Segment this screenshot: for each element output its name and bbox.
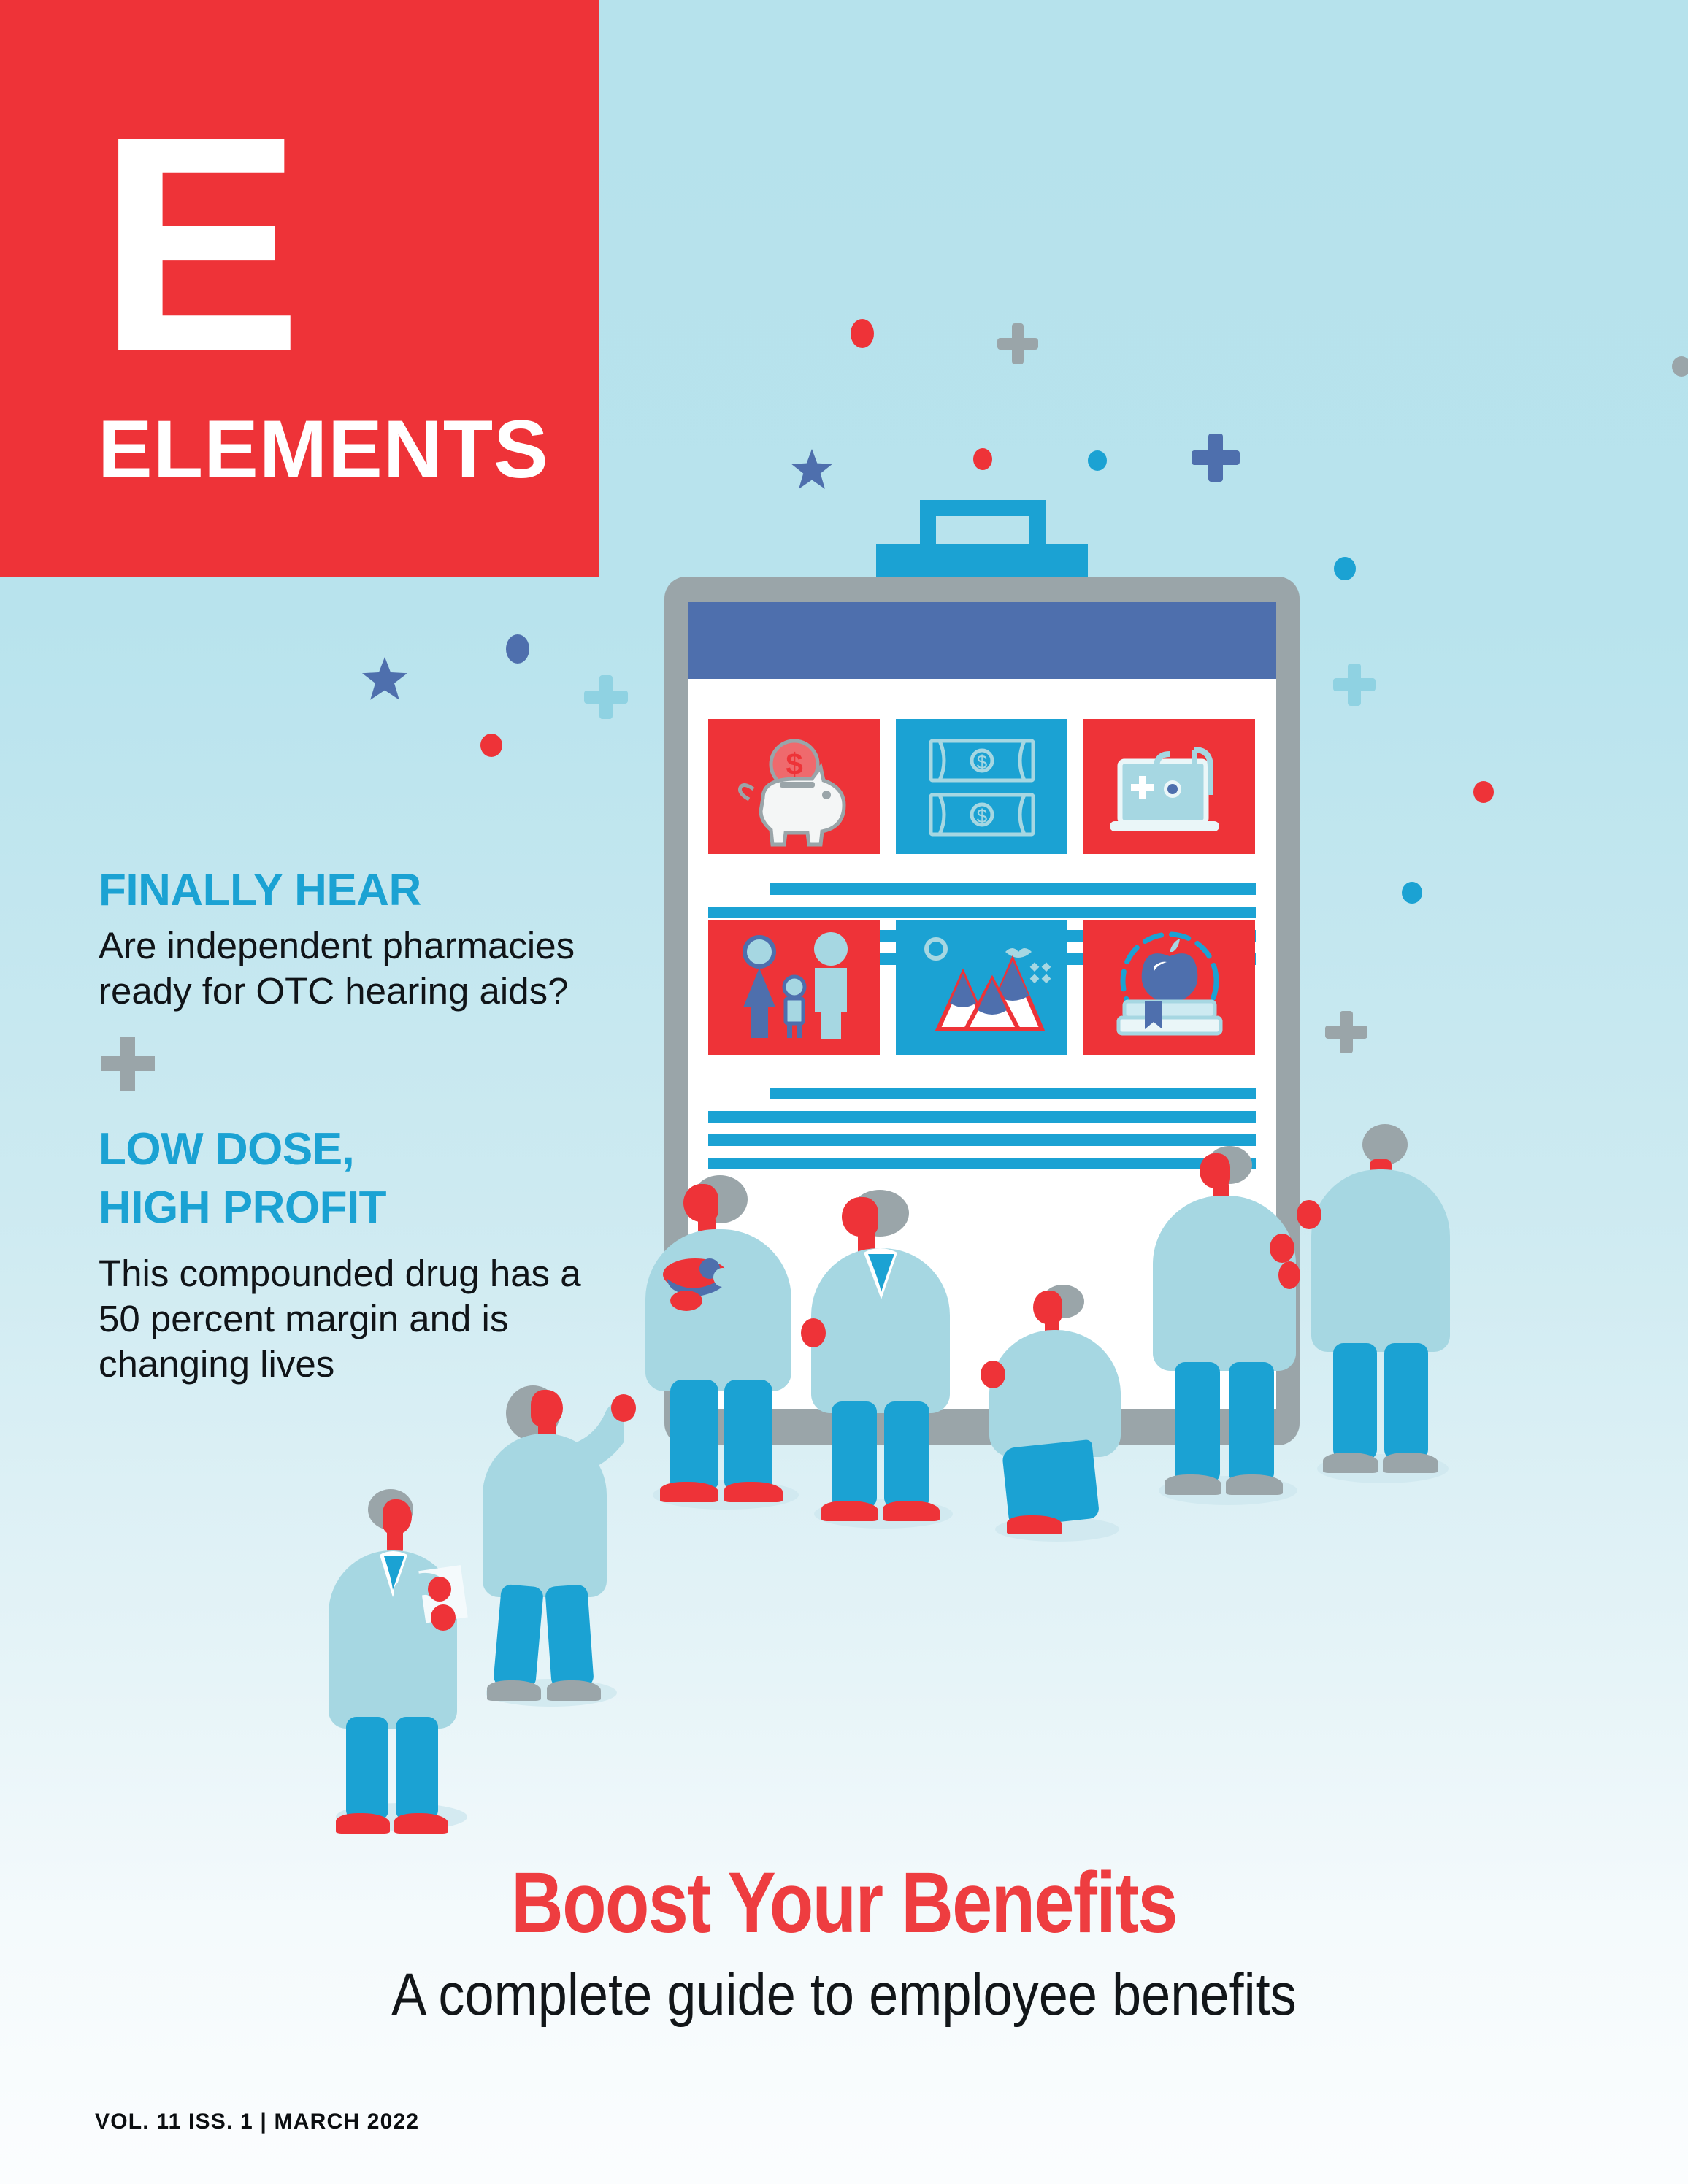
issue-line: VOL. 11 ISS. 1 | MARCH 2022 bbox=[95, 2110, 419, 2134]
text-bar bbox=[708, 1111, 1256, 1123]
figure-pants-right bbox=[396, 1717, 438, 1820]
figure-hand bbox=[801, 1318, 826, 1347]
figure-coat bbox=[989, 1330, 1121, 1457]
cover-line-low-dose[interactable]: LOW DOSE, HIGH PROFIT This compounded dr… bbox=[99, 1124, 610, 1387]
figure-shoe-right bbox=[1383, 1453, 1438, 1473]
figure-shoe-right bbox=[883, 1501, 940, 1521]
cover-line-kicker-line-2: HIGH PROFIT bbox=[99, 1183, 610, 1234]
figure-pants-left bbox=[1175, 1362, 1220, 1483]
svg-text:$: $ bbox=[977, 751, 988, 773]
confetti-dot-cyan bbox=[1088, 450, 1107, 471]
figure-shoe-right bbox=[394, 1813, 448, 1834]
clipboard-header-band bbox=[688, 602, 1276, 679]
text-bar bbox=[708, 907, 1256, 918]
confetti-cross-grey bbox=[997, 323, 1038, 364]
figure-shoe-left bbox=[1165, 1474, 1221, 1495]
figure-shoe-right bbox=[1226, 1474, 1283, 1495]
confetti-cross-navy bbox=[1192, 434, 1240, 482]
magazine-cover: $ $ bbox=[0, 0, 1688, 2184]
apple-on-books-icon bbox=[1083, 920, 1255, 1055]
confetti-star-navy bbox=[362, 657, 407, 701]
figure-pants-right bbox=[545, 1584, 594, 1689]
logo-wordmark: ELEMENTS bbox=[98, 409, 549, 491]
dollar-bills-icon: $ $ bbox=[896, 719, 1067, 854]
figure-pants-left bbox=[493, 1584, 544, 1690]
benefit-tile-savings: $ bbox=[708, 719, 880, 854]
figure-hand bbox=[611, 1394, 636, 1422]
figure-lapel bbox=[807, 1190, 960, 1533]
svg-text:$: $ bbox=[977, 805, 988, 827]
figure-hand bbox=[1278, 1261, 1300, 1289]
text-bar bbox=[708, 1134, 1256, 1146]
figure-coat bbox=[1311, 1169, 1450, 1352]
figure-pharmacist-d bbox=[1150, 1146, 1311, 1511]
figure-shoe-left bbox=[821, 1501, 878, 1521]
figure-pants-right bbox=[1229, 1362, 1274, 1483]
benefit-tile-pay: $ $ bbox=[896, 719, 1067, 854]
figure-pharmacist-a bbox=[642, 1175, 810, 1511]
figure-shoe-left bbox=[336, 1813, 390, 1834]
benefit-tile-row-2 bbox=[708, 920, 1256, 1055]
figure-pharmacist-e bbox=[1307, 1124, 1460, 1489]
confetti-dot-cyan bbox=[1334, 557, 1356, 580]
figure-pharmacist-f bbox=[478, 1372, 624, 1715]
figure-pants bbox=[1002, 1439, 1100, 1527]
figure-coat bbox=[1153, 1196, 1296, 1371]
confetti-star-navy bbox=[791, 449, 832, 490]
cover-line-kicker: FINALLY HEAR bbox=[99, 865, 610, 916]
confetti-cross-grey bbox=[1325, 1011, 1367, 1053]
figure-shoe bbox=[1007, 1515, 1062, 1534]
confetti-dot-navy bbox=[506, 634, 529, 664]
magazine-logo[interactable]: E ELEMENTS bbox=[0, 0, 599, 577]
confetti-dot-cyan bbox=[1402, 882, 1422, 904]
figure-hand bbox=[1297, 1200, 1321, 1229]
figure-pants-left bbox=[832, 1401, 877, 1508]
figure-shoe-right bbox=[547, 1680, 601, 1701]
confetti-dot-red bbox=[973, 448, 992, 470]
figure-pants-right bbox=[884, 1401, 929, 1508]
cover-line-dek: This compounded drug has a 50 percent ma… bbox=[99, 1251, 610, 1387]
figure-hand bbox=[431, 1604, 456, 1631]
confetti-cross-pale bbox=[584, 675, 628, 719]
feature-subtitle: A complete guide to employee benefits bbox=[101, 1964, 1587, 2026]
cover-line-kicker-line-1: LOW DOSE, bbox=[99, 1124, 610, 1175]
confetti-cross-pale bbox=[1333, 664, 1376, 706]
figure-pants-left bbox=[346, 1717, 388, 1820]
figure-hand bbox=[428, 1577, 451, 1602]
logo-letter-e: E bbox=[98, 106, 299, 383]
figure-shoe-left bbox=[487, 1680, 541, 1701]
confetti-dot-red bbox=[480, 734, 502, 757]
benefit-tile-telehealth bbox=[1083, 719, 1255, 854]
cover-line-finally-hear[interactable]: FINALLY HEAR Are independent pharmacies … bbox=[99, 865, 610, 1014]
benefit-tile-family bbox=[708, 920, 880, 1055]
figure-pharmacist-g bbox=[329, 1489, 475, 1832]
figure-hand bbox=[981, 1361, 1005, 1388]
mountains-icon bbox=[896, 920, 1067, 1055]
cover-line-dek: Are independent pharmacies ready for OTC… bbox=[99, 923, 610, 1014]
text-bar bbox=[770, 883, 1256, 895]
figure-pants-left bbox=[1333, 1343, 1377, 1460]
text-bar bbox=[770, 1088, 1256, 1099]
benefit-tile-education bbox=[1083, 920, 1255, 1055]
confetti-dot-grey bbox=[1672, 356, 1688, 377]
benefit-tile-row-1: $ $ bbox=[708, 719, 1256, 854]
figure-pants-right bbox=[1384, 1343, 1428, 1460]
figure-shoe-left bbox=[1323, 1453, 1378, 1473]
figure-pill-bowl-icon bbox=[642, 1175, 810, 1511]
family-icon bbox=[708, 920, 880, 1055]
confetti-dot-red bbox=[851, 319, 874, 348]
piggy-bank-icon: $ bbox=[708, 719, 880, 854]
svg-text:$: $ bbox=[786, 747, 802, 781]
plus-divider-icon bbox=[101, 1037, 155, 1091]
figure-pharmacist-c bbox=[989, 1285, 1128, 1540]
feature-title: Boost Your Benefits bbox=[135, 1860, 1553, 1946]
benefit-tile-time-off bbox=[896, 920, 1067, 1055]
laptop-stethoscope-icon bbox=[1083, 719, 1255, 854]
figure-pharmacist-b bbox=[807, 1190, 960, 1533]
confetti-dot-red bbox=[1473, 781, 1494, 803]
figure-hand bbox=[1270, 1234, 1294, 1263]
